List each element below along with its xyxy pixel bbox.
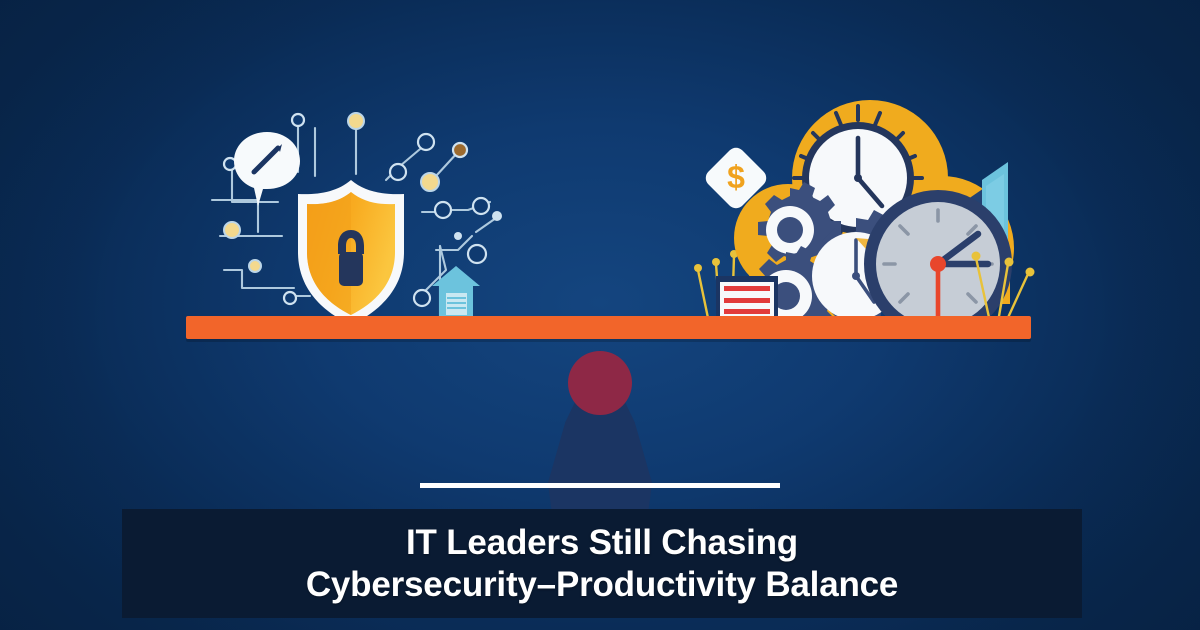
- left-cybersecurity-group: [190, 110, 510, 322]
- svg-text:$: $: [727, 159, 745, 195]
- poster-canvas: $: [0, 0, 1200, 630]
- right-productivity-group: $: [690, 88, 1045, 320]
- page-title: IT Leaders Still Chasing Cybersecurity–P…: [306, 522, 898, 605]
- house-document-icon: [430, 263, 482, 321]
- title-divider-rule: [420, 483, 780, 488]
- shield-lock-icon: [288, 178, 414, 326]
- seesaw-plank: [186, 316, 1031, 339]
- fulcrum-pivot-ball-icon: [568, 351, 632, 415]
- title-banner: IT Leaders Still Chasing Cybersecurity–P…: [122, 509, 1082, 618]
